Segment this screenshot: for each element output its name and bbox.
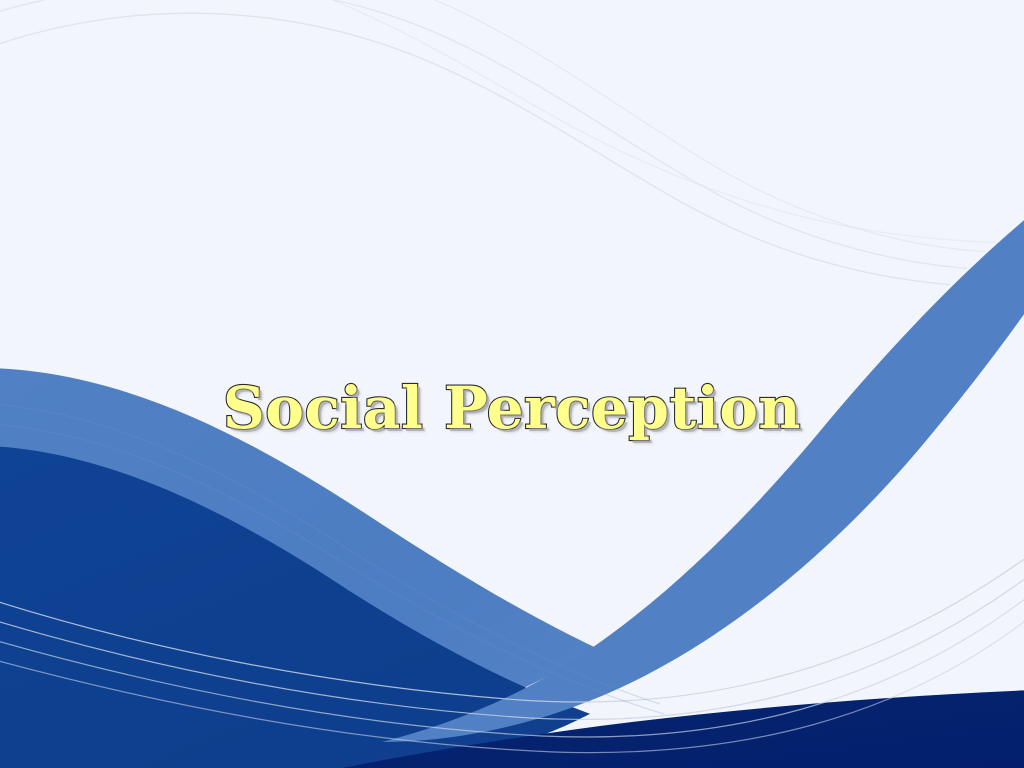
page-title: Social Perception [0,379,1024,437]
presentation-slide: Social Perception [0,0,1024,768]
